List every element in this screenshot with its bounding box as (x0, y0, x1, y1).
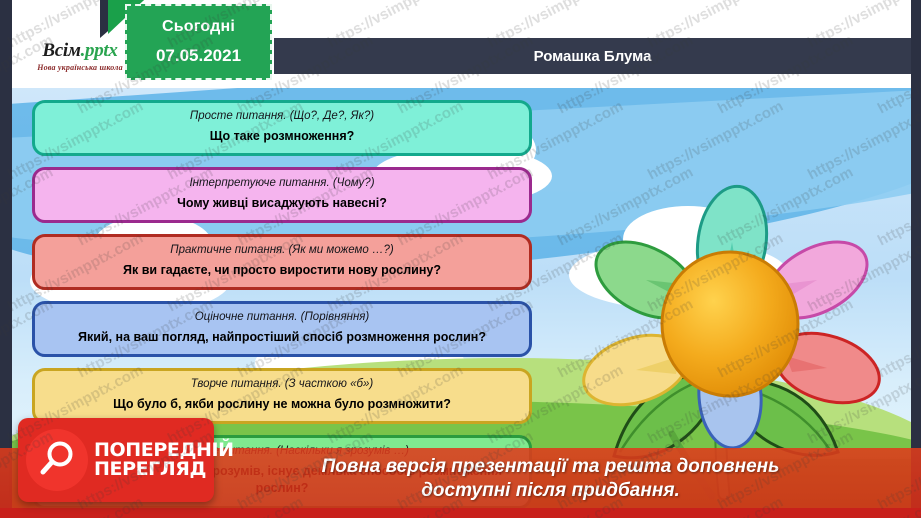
date-badge-value: 07.05.2021 (156, 46, 241, 66)
preview-badge[interactable]: ПОПЕРЕДНІЙ ПЕРЕГЛЯД (18, 418, 214, 502)
preview-badge-line-2: ПЕРЕГЛЯД (94, 460, 234, 479)
question-kind: Творче питання. (З часткою «б») (45, 377, 519, 393)
question-box-creative[interactable]: Творче питання. (З часткою «б») Що було … (32, 368, 532, 424)
question-box-evaluative[interactable]: Оціночне питання. (Порівняння) Який, на … (32, 301, 532, 357)
question-kind: Просте питання. (Що?, Де?, Як?) (45, 109, 519, 125)
site-logo: Всім.pptx Нова українська школа (20, 34, 140, 78)
question-box-simple[interactable]: Просте питання. (Що?, Де?, Як?) Що таке … (32, 100, 532, 156)
logo-suffix: .pptx (81, 40, 118, 61)
question-kind: Практичне питання. (Як ми можемо …?) (45, 243, 519, 259)
slide-header: Всім.pptx Нова українська школа Сьогодні… (12, 0, 911, 88)
question-text: Чому живці висаджують навесні? (45, 195, 519, 213)
slide-canvas: Всім.pptx Нова українська школа Сьогодні… (0, 0, 921, 518)
question-text: Як ви гадаєте, чи просто виростити нову … (45, 262, 519, 280)
banner-line-2: доступні після придбання. (241, 479, 680, 503)
question-text: Що таке розмноження? (45, 128, 519, 146)
question-kind: Оціночне питання. (Порівняння) (45, 310, 519, 326)
question-text: Який, на ваш погляд, найпростіший спосіб… (45, 329, 519, 347)
question-kind: Інтерпретуюче питання. (Чому?) (45, 176, 519, 192)
page-title: Ромашка Блума (534, 48, 652, 65)
date-badge-label: Сьогодні (162, 18, 235, 36)
banner-stripe (0, 508, 921, 518)
question-text: Що було б, якби рослину не можна було ро… (45, 396, 519, 414)
magnifier-icon (26, 429, 88, 491)
banner-line-1: Повна версія презентації та решта доповн… (142, 455, 780, 479)
title-bar: Ромашка Блума (274, 38, 911, 74)
logo-brand: Всім (42, 40, 80, 61)
question-box-practical[interactable]: Практичне питання. (Як ми можемо …?) Як … (32, 234, 532, 290)
question-box-interpretive[interactable]: Інтерпретуюче питання. (Чому?) Чому живц… (32, 167, 532, 223)
frame-edge-right (911, 0, 921, 518)
logo-tagline: Нова українська школа (37, 63, 123, 72)
frame-edge-left (0, 0, 12, 518)
date-badge: Сьогодні 07.05.2021 (125, 4, 272, 80)
